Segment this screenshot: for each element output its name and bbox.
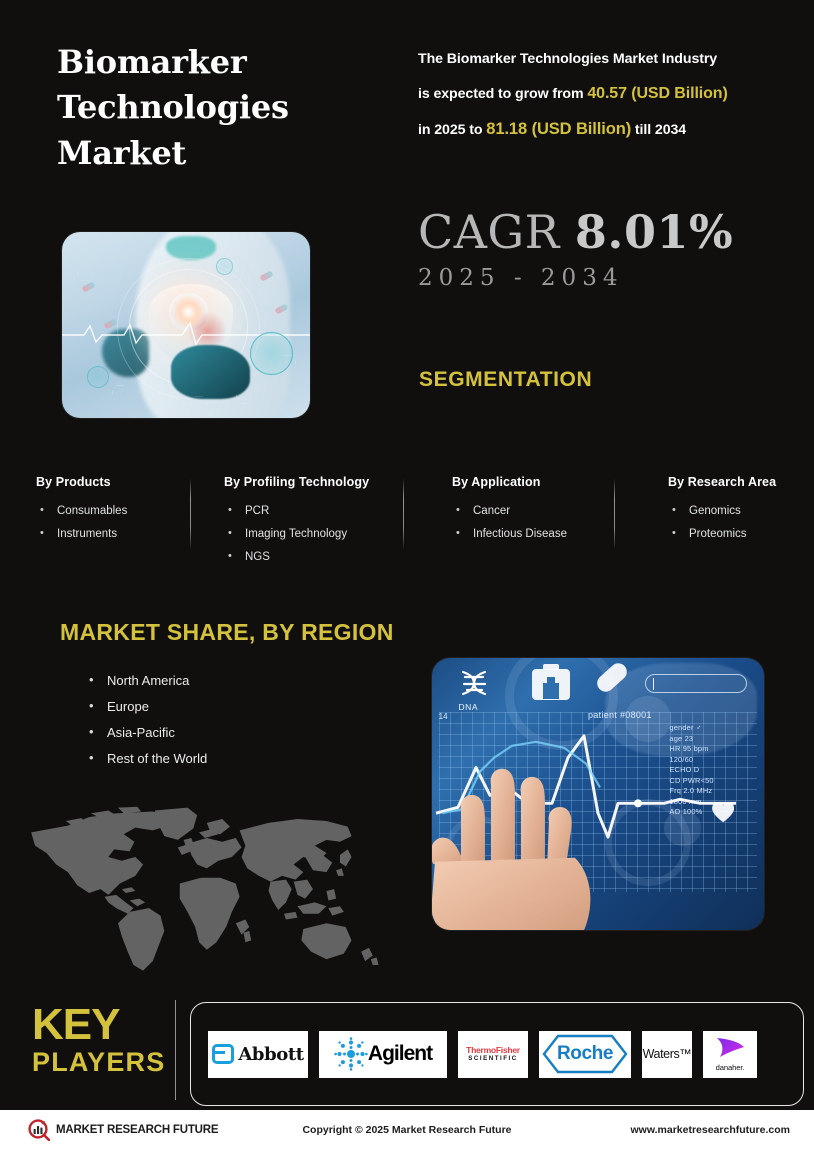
- medical-kit-icon: [532, 669, 570, 700]
- cagr-heading: CAGR 8.01%: [418, 205, 733, 259]
- intro-line-1: The Biomarker Technologies Market Indust…: [418, 51, 717, 67]
- world-map: [8, 802, 394, 982]
- mrf-logo-icon: [28, 1119, 50, 1141]
- key-players-line1: KEY: [32, 1000, 119, 1049]
- molecule-icon-1: [77, 265, 93, 281]
- logo-abbott[interactable]: Abbott: [208, 1031, 308, 1078]
- segment-list-research-area: Genomics Proteomics: [668, 500, 776, 546]
- intro-paragraph: The Biomarker Technologies Market Indust…: [418, 44, 798, 148]
- footer-copyright: Copyright © 2025 Market Research Future: [302, 1124, 511, 1136]
- segmentation-columns: By Products Consumables Instruments By P…: [0, 475, 814, 580]
- segment-list-profiling-technology: PCR Imaging Technology NGS: [224, 500, 369, 569]
- bokeh-circle-1: [625, 696, 671, 742]
- segment-heading-profiling-technology: By Profiling Technology: [224, 475, 369, 489]
- key-players-line2: PLAYERS: [32, 1050, 165, 1076]
- segment-list-application: Cancer Infectious Disease: [452, 500, 567, 546]
- market-share-region-list: North America Europe Asia-Pacific Rest o…: [85, 668, 207, 772]
- pill-icon-1: [81, 281, 95, 292]
- intro-line-3-suffix: till 2034: [631, 122, 686, 138]
- logo-thermo-fisher[interactable]: ThermoFisher SCIENTIFIC: [458, 1031, 528, 1078]
- search-field[interactable]: [645, 674, 748, 693]
- segment-column-research-area: By Research Area Genomics Proteomics: [668, 475, 776, 546]
- market-value-from: 40.57 (USD Billion): [587, 85, 727, 102]
- segment-item: Consumables: [36, 500, 127, 523]
- segment-item: Instruments: [36, 523, 127, 546]
- thermo-subtext: SCIENTIFIC: [466, 1055, 520, 1062]
- bokeh-circle-2: [664, 810, 701, 845]
- molecule-icon-2: [112, 385, 128, 401]
- segment-heading-research-area: By Research Area: [668, 475, 776, 489]
- key-players-divider: [175, 1000, 176, 1100]
- segment-item: Proteomics: [668, 523, 776, 546]
- cagr-label: CAGR: [418, 205, 575, 259]
- cagr-value: 8.01%: [575, 205, 733, 259]
- infographic-page: Biomarker Technologies Market The Biomar…: [0, 0, 814, 1150]
- agilent-wordmark: Agilent: [368, 1042, 432, 1066]
- logo-danaher[interactable]: danaher.: [703, 1031, 757, 1078]
- key-players-heading: KEY PLAYERS: [32, 1004, 165, 1076]
- agilent-burst-icon: [334, 1037, 368, 1071]
- logo-agilent[interactable]: Agilent: [319, 1031, 447, 1078]
- segment-item: Imaging Technology: [224, 523, 369, 546]
- mrf-brand-text: MARKET RESEARCH FUTURE: [56, 1124, 218, 1136]
- segment-item: PCR: [224, 500, 369, 523]
- danaher-wordmark: danaher.: [715, 1063, 745, 1072]
- logo-roche[interactable]: Roche: [539, 1031, 631, 1078]
- hand-illustration: [432, 745, 611, 930]
- waters-wordmark: Waters™: [643, 1047, 692, 1061]
- face-mask-shape: [166, 236, 216, 260]
- virus-icon-3: [216, 258, 233, 275]
- intro-line-3-prefix: in 2025 to: [418, 122, 486, 138]
- segment-column-products: By Products Consumables Instruments: [36, 475, 127, 546]
- footer-bar: MARKET RESEARCH FUTURE Copyright © 2025 …: [0, 1110, 814, 1150]
- page-title: Biomarker Technologies Market: [57, 40, 387, 176]
- cagr-years: 2025 - 2034: [418, 265, 623, 291]
- segment-item: Infectious Disease: [452, 523, 567, 546]
- world-map-svg: [8, 802, 394, 982]
- segment-item: Cancer: [452, 500, 567, 523]
- virus-icon-2: [87, 366, 109, 388]
- region-item: North America: [85, 668, 207, 694]
- segment-column-application: By Application Cancer Infectious Disease: [452, 475, 567, 546]
- segment-list-products: Consumables Instruments: [36, 500, 127, 546]
- medical-dashboard-image: DNA 14 patient #08001 gender ♂ age 23 HR…: [432, 658, 764, 930]
- footer-brand[interactable]: MARKET RESEARCH FUTURE: [28, 1119, 218, 1141]
- segment-heading-application: By Application: [452, 475, 567, 489]
- market-value-to: 81.18 (USD Billion): [486, 120, 631, 138]
- intro-line-2-prefix: is expected to grow from: [418, 86, 587, 102]
- danaher-swoosh-icon: [715, 1036, 745, 1058]
- region-item: Asia-Pacific: [85, 720, 207, 746]
- abbott-wordmark: Abbott: [238, 1044, 303, 1065]
- segment-heading-products: By Products: [36, 475, 127, 489]
- region-item: Europe: [85, 694, 207, 720]
- dna-label: DNA: [459, 702, 478, 712]
- segment-item: NGS: [224, 546, 369, 569]
- footer-website[interactable]: www.marketresearchfuture.com: [630, 1124, 790, 1136]
- thermo-wordmark: ThermoFisher: [466, 1046, 520, 1055]
- abbott-mark-icon: [212, 1044, 234, 1064]
- segment-column-profiling-technology: By Profiling Technology PCR Imaging Tech…: [224, 475, 369, 569]
- roche-wordmark: Roche: [557, 1043, 613, 1065]
- logo-waters[interactable]: Waters™: [642, 1031, 692, 1078]
- market-share-title: MARKET SHARE, BY REGION: [60, 619, 394, 646]
- key-players-logo-box: Abbott Agilent: [190, 1002, 804, 1106]
- segment-item: Genomics: [668, 500, 776, 523]
- segmentation-title: SEGMENTATION: [419, 368, 592, 392]
- doctor-lungs-image: [62, 232, 310, 418]
- region-item: Rest of the World: [85, 746, 207, 772]
